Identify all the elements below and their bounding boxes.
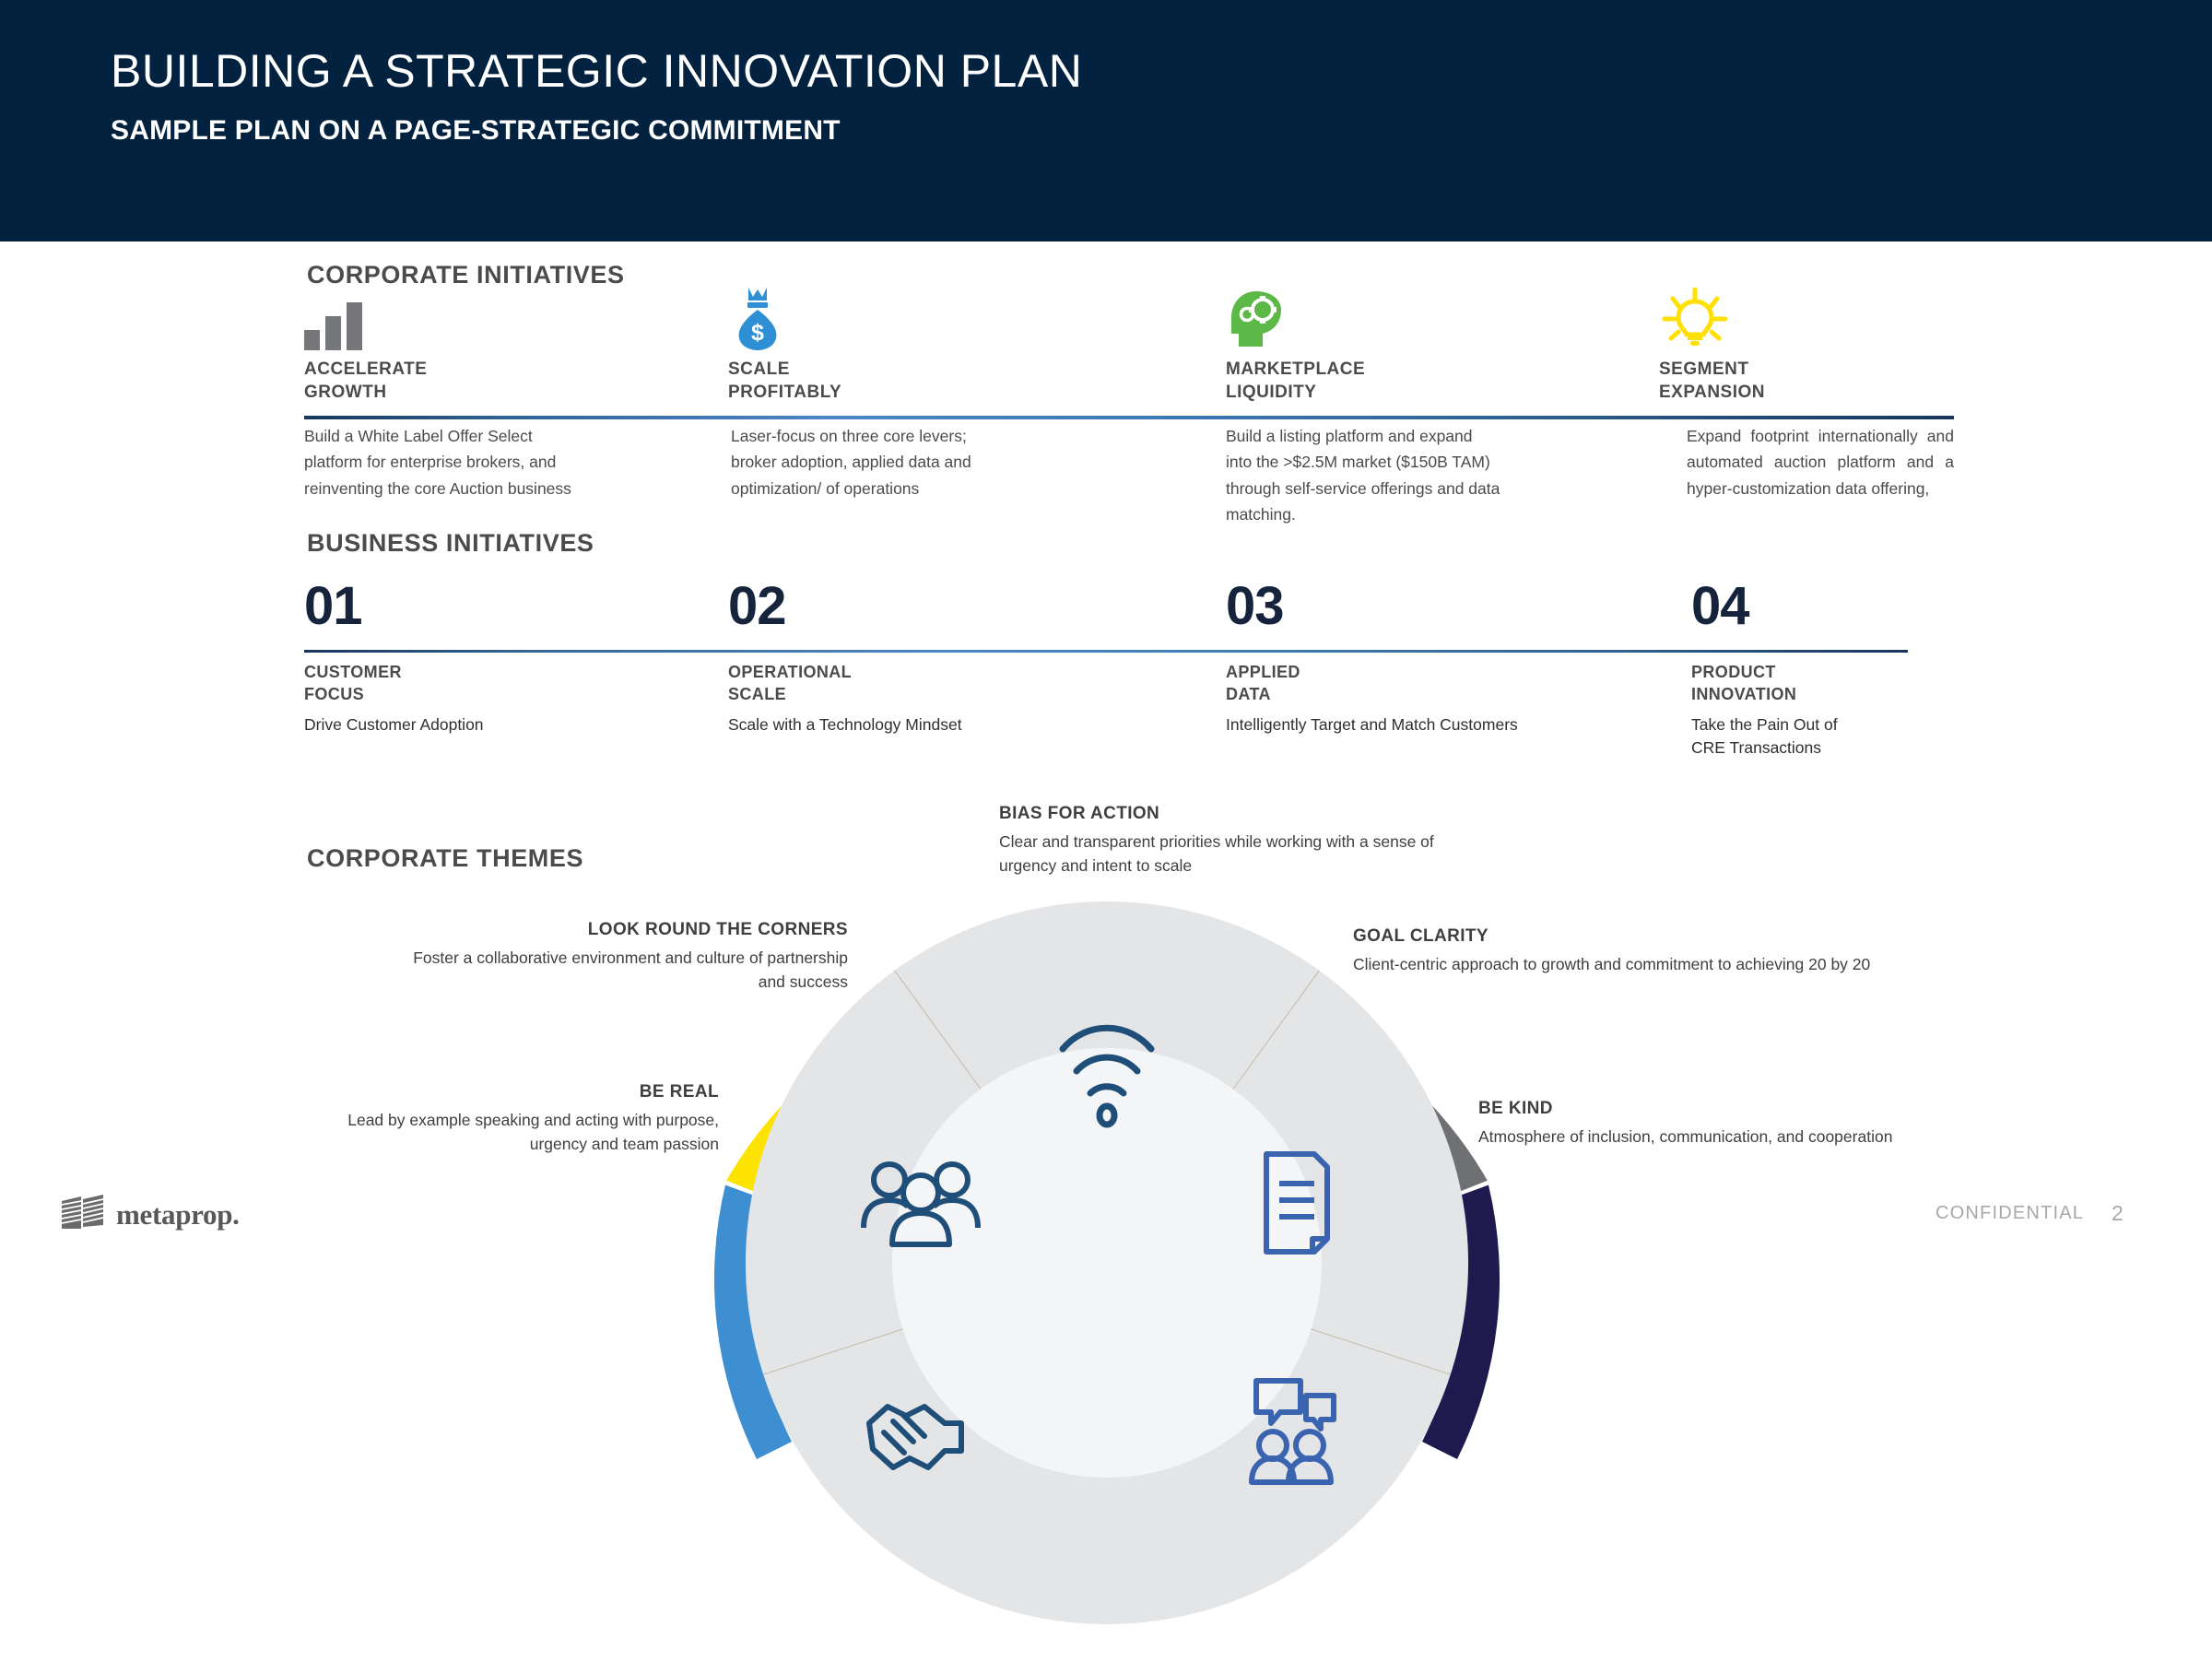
theme-title: BE KIND (1478, 1097, 2013, 1122)
brand-logo: metaprop. (61, 1194, 240, 1235)
svg-text:$: $ (751, 320, 764, 346)
corporate-initiatives-row: ACCELERATE GROWTH $ SCALE PROFITABLY (304, 288, 1954, 426)
title-line-1: SEGMENT (1659, 358, 1963, 381)
title-line-2: SCALE (728, 683, 1032, 705)
title-line-2: GROWTH (304, 381, 608, 404)
theme-callout-look-round-the-corners: LOOK ROUND THE CORNERS Foster a collabor… (387, 918, 848, 994)
lightbulb-icon (1659, 288, 1963, 350)
confidential-label: CONFIDENTIAL (1935, 1203, 2084, 1224)
head-gears-icon (1226, 288, 1530, 350)
theme-callout-bias-for-action: BIAS FOR ACTION Clear and transparent pr… (999, 802, 1478, 878)
page-number: 2 (2112, 1201, 2124, 1226)
title-line-2: INNOVATION (1691, 683, 1876, 705)
business-initiatives-numbers-row: 01 02 03 04 (304, 581, 1908, 654)
corporate-initiative-card-1: ACCELERATE GROWTH (304, 288, 608, 404)
business-initiative-number-3: 03 (1226, 581, 1284, 631)
title-line-2: FOCUS (304, 683, 608, 705)
money-bag-icon: $ (728, 288, 1032, 350)
business-initiative-card-2: OPERATIONAL SCALE Scale with a Technolog… (728, 661, 1032, 736)
business-initiative-subtitle-1: Drive Customer Adoption (304, 713, 608, 736)
corporate-initiative-title-1: ACCELERATE GROWTH (304, 358, 608, 404)
business-initiative-subtitle-3: Intelligently Target and Match Customers (1226, 713, 1558, 736)
corporate-initiative-desc-4: Expand footprint internationally and aut… (1687, 423, 1954, 501)
page-subtitle: SAMPLE PLAN ON A PAGE-STRATEGIC COMMITME… (111, 115, 841, 147)
theme-callout-be-real: BE REAL Lead by example speaking and act… (313, 1080, 719, 1156)
theme-title: GOAL CLARITY (1353, 925, 1924, 949)
title-line-1: APPLIED (1226, 661, 1558, 683)
number-label: 01 (304, 581, 362, 631)
number-label: 03 (1226, 581, 1284, 631)
corporate-themes-heading: CORPORATE THEMES (307, 844, 583, 873)
title-line-1: SCALE (728, 358, 1032, 381)
bar-chart-icon (304, 288, 608, 350)
theme-description: Clear and transparent priorities while w… (999, 830, 1478, 878)
building-stack-icon (61, 1194, 105, 1235)
corporate-initiative-card-4: SEGMENT EXPANSION (1659, 288, 1963, 404)
business-initiatives-heading: BUSINESS INITIATIVES (307, 529, 594, 558)
theme-callout-be-kind: BE KIND Atmosphere of inclusion, communi… (1478, 1097, 2013, 1149)
theme-description: Atmosphere of inclusion, communication, … (1478, 1125, 2013, 1149)
corporate-initiative-card-3: MARKETPLACE LIQUIDITY (1226, 288, 1530, 404)
corporate-initiatives-divider (304, 416, 1954, 419)
business-initiative-subtitle-2: Scale with a Technology Mindset (728, 713, 1032, 736)
theme-description: Foster a collaborative environment and c… (387, 946, 848, 995)
business-initiative-number-1: 01 (304, 581, 362, 631)
title-line-2: DATA (1226, 683, 1558, 705)
business-initiative-card-3: APPLIED DATA Intelligently Target and Ma… (1226, 661, 1558, 736)
corporate-initiative-desc-1: Build a White Label Offer Select platfor… (304, 423, 594, 501)
slide-header-banner: BUILDING A STRATEGIC INNOVATION PLAN SAM… (0, 0, 2212, 242)
theme-description: Client-centric approach to growth and co… (1353, 952, 1924, 976)
title-line-2: LIQUIDITY (1226, 381, 1530, 404)
title-line-1: ACCELERATE (304, 358, 608, 381)
title-line-2: PROFITABLY (728, 381, 1032, 404)
corporate-initiative-card-2: $ SCALE PROFITABLY (728, 288, 1032, 404)
title-line-1: CUSTOMER (304, 661, 608, 683)
corporate-initiative-desc-3: Build a listing platform and expand into… (1226, 423, 1502, 527)
title-line-2: EXPANSION (1659, 381, 1963, 404)
title-line-1: OPERATIONAL (728, 661, 1032, 683)
theme-description: Lead by example speaking and acting with… (313, 1108, 719, 1157)
theme-callout-goal-clarity: GOAL CLARITY Client-centric approach to … (1353, 925, 1924, 976)
corporate-initiative-desc-2: Laser-focus on three core levers; broker… (731, 423, 994, 501)
number-label: 04 (1691, 581, 1749, 631)
corporate-initiative-title-3: MARKETPLACE LIQUIDITY (1226, 358, 1530, 404)
business-initiative-title-1: CUSTOMER FOCUS (304, 661, 608, 706)
title-line-1: PRODUCT (1691, 661, 1876, 683)
business-initiative-card-4: PRODUCT INNOVATION Take the Pain Out of … (1691, 661, 1876, 760)
business-initiative-number-2: 02 (728, 581, 786, 631)
business-initiative-card-1: CUSTOMER FOCUS Drive Customer Adoption (304, 661, 608, 736)
business-initiatives-divider (304, 650, 1908, 653)
brand-name: metaprop. (116, 1198, 240, 1231)
theme-title: LOOK ROUND THE CORNERS (387, 918, 848, 943)
business-initiative-title-4: PRODUCT INNOVATION (1691, 661, 1876, 706)
business-initiative-title-3: APPLIED DATA (1226, 661, 1558, 706)
page-title: BUILDING A STRATEGIC INNOVATION PLAN (111, 44, 1082, 98)
theme-title: BE REAL (313, 1080, 719, 1105)
corporate-initiative-title-4: SEGMENT EXPANSION (1659, 358, 1963, 404)
title-line-1: MARKETPLACE (1226, 358, 1530, 381)
business-initiative-number-4: 04 (1691, 581, 1749, 631)
business-initiative-title-2: OPERATIONAL SCALE (728, 661, 1032, 706)
number-label: 02 (728, 581, 786, 631)
business-initiative-subtitle-4: Take the Pain Out of CRE Transactions (1691, 713, 1876, 760)
corporate-initiative-title-2: SCALE PROFITABLY (728, 358, 1032, 404)
theme-title: BIAS FOR ACTION (999, 802, 1478, 827)
corporate-initiatives-heading: CORPORATE INITIATIVES (307, 261, 625, 289)
